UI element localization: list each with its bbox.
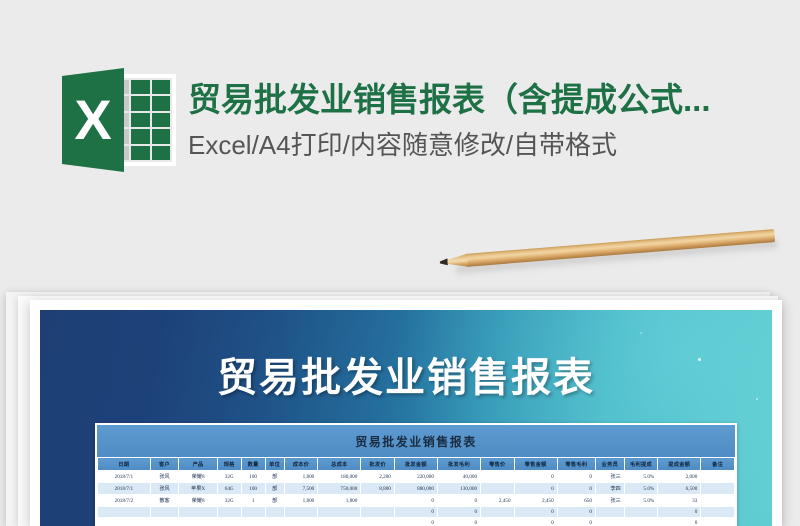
excel-file-icon: X [62, 68, 176, 172]
table-cell: 张三 [595, 495, 624, 507]
column-header: 数量 [241, 458, 265, 471]
table-cell: 5.0% [624, 495, 658, 507]
table-cell: 1,800 [284, 495, 318, 507]
table-cell: 2018/7/1 [98, 483, 151, 495]
column-header: 日期 [98, 458, 151, 471]
table-cell [98, 518, 151, 526]
table-cell [481, 507, 515, 518]
table-cell [481, 483, 515, 495]
table-cell [361, 507, 395, 518]
table-cell: 650 [557, 495, 595, 507]
table-cell [361, 518, 395, 526]
page-root: X 贸易批发业销售报表（含提成公式... Excel/A4打印/内容随意修改/自… [0, 0, 800, 526]
table-cell: 部 [265, 471, 284, 483]
table-cell: 0 [514, 483, 557, 495]
table-cell: 0 [394, 518, 437, 526]
table-cell: 1,800 [284, 471, 318, 483]
table-cell: 荣耀8 [179, 471, 217, 483]
column-header: 单位 [265, 458, 284, 471]
table-cell [179, 518, 217, 526]
column-header: 客户 [150, 458, 179, 471]
table-cell [701, 483, 735, 495]
table-cell: 6,500 [658, 483, 701, 495]
table-cell [701, 471, 735, 483]
column-header: 成本价 [284, 458, 318, 471]
spreadsheet-table: 日期客户产品规格数量单位成本价总成本批发价批发金额批发毛利零售价零售金额零售毛利… [97, 457, 735, 526]
table-cell: 散客 [150, 495, 179, 507]
table-cell: 7,500 [284, 483, 318, 495]
table-cell: 880,000 [394, 483, 437, 495]
header: X 贸易批发业销售报表（含提成公式... Excel/A4打印/内容随意修改/自… [0, 0, 800, 240]
table-cell: 220,000 [394, 471, 437, 483]
table-cell: 0 [394, 495, 437, 507]
table-cell [241, 518, 265, 526]
table-cell [701, 507, 735, 518]
table-cell [217, 518, 241, 526]
column-header: 零售价 [481, 458, 515, 471]
table-cell: 64G [217, 483, 241, 495]
table-cell: 33 [658, 495, 701, 507]
table-cell: 100 [241, 483, 265, 495]
table-cell [98, 507, 151, 518]
table-cell: 180,000 [318, 471, 361, 483]
table-cell [624, 507, 658, 518]
column-header: 批发金额 [394, 458, 437, 471]
table-cell: 0 [514, 507, 557, 518]
table-cell: 部 [265, 495, 284, 507]
table-cell [318, 518, 361, 526]
table-cell: 荣耀8 [179, 495, 217, 507]
table-cell: 0 [658, 507, 701, 518]
table-head: 日期客户产品规格数量单位成本价总成本批发价批发金额批发毛利零售价零售金额零售毛利… [98, 458, 735, 471]
page-title: 贸易批发业销售报表（含提成公式... [188, 79, 800, 120]
banner-title: 贸易批发业销售报表 [40, 345, 772, 403]
table-cell [265, 507, 284, 518]
table-cell [481, 518, 515, 526]
table-cell [701, 518, 735, 526]
column-header: 零售毛利 [557, 458, 595, 471]
table-cell [481, 471, 515, 483]
table-cell: 32G [217, 495, 241, 507]
table-cell [624, 518, 658, 526]
table-cell: 0 [437, 518, 480, 526]
table-cell: 张三 [595, 471, 624, 483]
table-cell [361, 495, 395, 507]
table-cell [284, 518, 318, 526]
spreadsheet-title: 贸易批发业销售报表 [97, 425, 735, 457]
table-cell: 2,450 [514, 495, 557, 507]
table-cell: 40,000 [437, 471, 480, 483]
table-cell [318, 507, 361, 518]
table-cell: 32G [217, 471, 241, 483]
table-cell [217, 507, 241, 518]
table-cell: 100 [241, 471, 265, 483]
table-cell [265, 518, 284, 526]
column-header: 总成本 [318, 458, 361, 471]
table-row: 00000 [98, 507, 735, 518]
table-cell: 苹果X [179, 483, 217, 495]
column-header: 产品 [179, 458, 217, 471]
table-cell [284, 507, 318, 518]
table-cell: 130,000 [437, 483, 480, 495]
table-cell: 2,450 [481, 495, 515, 507]
table-cell: 5.0% [624, 483, 658, 495]
table-cell [595, 507, 624, 518]
column-header: 零售金额 [514, 458, 557, 471]
column-header: 毛利提成 [624, 458, 658, 471]
table-cell: 李四 [595, 483, 624, 495]
table-cell [595, 518, 624, 526]
header-text-block: 贸易批发业销售报表（含提成公式... Excel/A4打印/内容随意修改/自带格… [188, 79, 800, 162]
table-cell: 部 [265, 483, 284, 495]
column-header: 批发毛利 [437, 458, 480, 471]
table-cell: 8,800 [361, 483, 395, 495]
table-row: 2018/7/2散客荣耀832G1部1,8001,800002,4502,450… [98, 495, 735, 507]
table-cell: 张风 [150, 471, 179, 483]
page-subtitle: Excel/A4打印/内容随意修改/自带格式 [188, 129, 800, 162]
table-cell: 2,000 [658, 471, 701, 483]
sparkle-dot [640, 332, 642, 334]
excel-letter-x: X [62, 68, 124, 172]
table-cell: 2018/7/1 [98, 471, 151, 483]
table-cell [150, 507, 179, 518]
table-body: 2018/7/1张风荣耀832G100部1,800180,0002,200220… [98, 471, 735, 526]
table-row: 2018/7/1张风荣耀832G100部1,800180,0002,200220… [98, 471, 735, 483]
table-cell: 0 [437, 495, 480, 507]
table-cell: 750,000 [318, 483, 361, 495]
table-cell: 0 [437, 507, 480, 518]
column-header: 提成金额 [658, 458, 701, 471]
table-header-row: 日期客户产品规格数量单位成本价总成本批发价批发金额批发毛利零售价零售金额零售毛利… [98, 458, 735, 471]
table-cell [179, 507, 217, 518]
table-cell: 1,800 [318, 495, 361, 507]
table-row: 2018/7/1张风苹果X64G100部7,500750,0008,800880… [98, 483, 735, 495]
column-header: 规格 [217, 458, 241, 471]
table-cell [241, 507, 265, 518]
column-header: 批发价 [361, 458, 395, 471]
table-cell: 张风 [150, 483, 179, 495]
table-cell: 0 [514, 518, 557, 526]
table-cell: 1 [241, 495, 265, 507]
preview-banner: 贸易批发业销售报表 贸易批发业销售报表 日期客户产品规格数量单位成本价总成本批发… [40, 310, 772, 526]
table-cell: 0 [658, 518, 701, 526]
column-header: 业务员 [595, 458, 624, 471]
table-cell: 2,200 [361, 471, 395, 483]
table-cell [701, 495, 735, 507]
table-cell: 0 [557, 518, 595, 526]
table-row: 00000 [98, 518, 735, 526]
column-header: 备注 [701, 458, 735, 471]
pencil-tip [439, 258, 448, 266]
embedded-spreadsheet: 贸易批发业销售报表 日期客户产品规格数量单位成本价总成本批发价批发金额批发毛利零… [95, 423, 737, 526]
table-cell: 0 [394, 507, 437, 518]
template-preview-card[interactable]: 贸易批发业销售报表 贸易批发业销售报表 日期客户产品规格数量单位成本价总成本批发… [30, 300, 782, 526]
table-cell: 0 [557, 507, 595, 518]
table-cell: 0 [514, 471, 557, 483]
table-cell [150, 518, 179, 526]
table-cell: 5.0% [624, 471, 658, 483]
table-cell: 2018/7/2 [98, 495, 151, 507]
table-cell: 0 [557, 471, 595, 483]
table-cell: 0 [557, 483, 595, 495]
